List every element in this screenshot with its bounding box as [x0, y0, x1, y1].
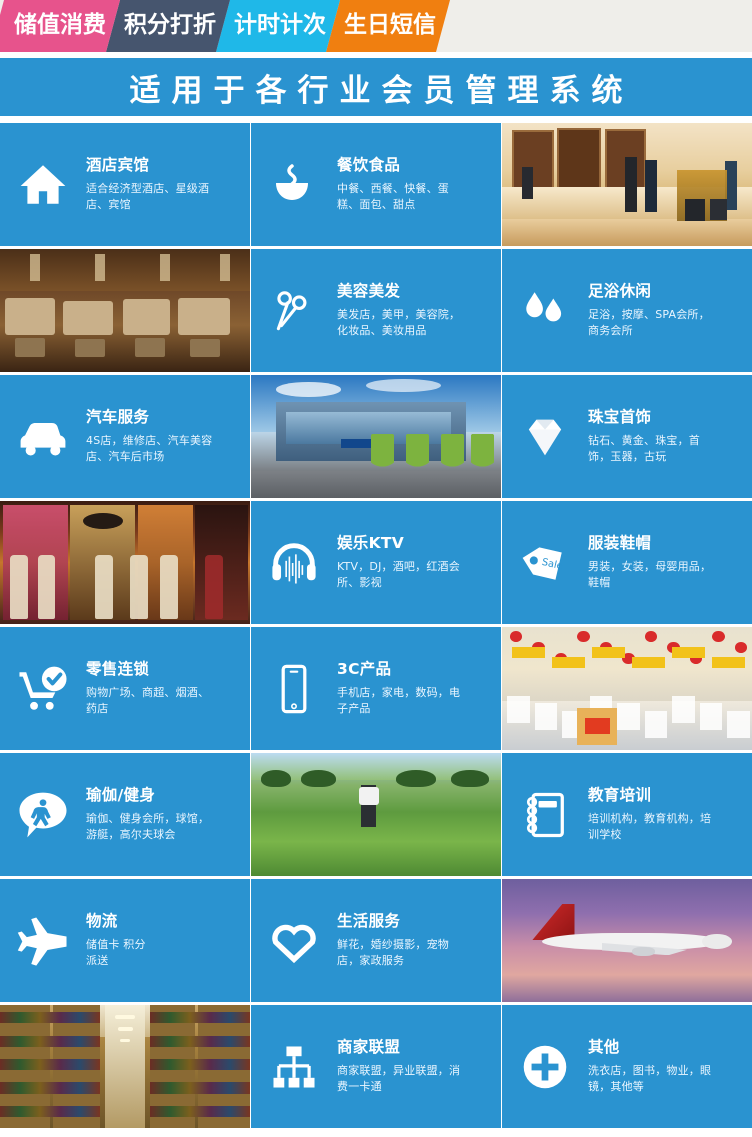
grid-cell-text: 餐饮食品中餐、西餐、快餐、蛋糕、面包、甜点	[337, 157, 457, 213]
feature-tab-2[interactable]: 计时计次	[216, 0, 340, 52]
grid-cell-car[interactable]: 汽车服务4S店，维修店、汽车美容店、汽车后市场	[0, 375, 250, 498]
grid-cell-description-line: 购物广场、商超、烟酒、	[86, 685, 209, 701]
grid-cell-photo[interactable]	[0, 501, 250, 624]
car-icon	[0, 409, 86, 465]
grid-cell-diamond[interactable]: 珠宝首饰钻石、黄金、珠宝，首饰，玉器，古玩	[502, 375, 752, 498]
grid-cell-fitness-chat[interactable]: 瑜伽/健身瑜伽、健身会所，球馆，游艇，高尔夫球会	[0, 753, 250, 876]
feature-tab-0[interactable]: 储值消费	[0, 0, 120, 52]
grid-cell-coffee-cup[interactable]: 餐饮食品中餐、西餐、快餐、蛋糕、面包、甜点	[251, 123, 501, 246]
grid-cell-text: 瑜伽/健身瑜伽、健身会所，球馆，游艇，高尔夫球会	[86, 787, 217, 843]
feature-tab-strip: 储值消费积分打折计时计次生日短信	[0, 0, 752, 52]
feature-tab-label: 计时计次	[234, 0, 326, 51]
grid-cell-text: 娱乐KTVKTV，DJ，酒吧，红酒会所、影视	[337, 535, 468, 591]
grid-cell-description: 足浴，按摩、SPA会所，商务会所	[588, 307, 710, 339]
grid-cell-smartphone[interactable]: 3C产品手机店，家电，数码，电子产品	[251, 627, 501, 750]
grid-cell-description: 钻石、黄金、珠宝，首饰，玉器，古玩	[588, 433, 700, 465]
grid-cell-description-line: 商家联盟，异业联盟，消	[337, 1063, 460, 1079]
grid-cell-description-line: 子产品	[337, 701, 460, 717]
grid-cell-description: 购物广场、商超、烟酒、药店	[86, 685, 209, 717]
grid-cell-description-line: 鞋帽	[588, 575, 711, 591]
grid-cell-description: 手机店，家电，数码，电子产品	[337, 685, 460, 717]
grid-cell-photo[interactable]	[502, 123, 752, 246]
feature-tabs: 储值消费积分打折计时计次生日短信	[0, 0, 436, 52]
grid-cell-description-line: 培训机构，教育机构，培	[588, 811, 711, 827]
grid-cell-title: 其他	[588, 1039, 711, 1056]
grid-cell-description: 男装，女装，母婴用品，鞋帽	[588, 559, 711, 591]
plus-circle-icon	[502, 1039, 588, 1095]
shopping-cart-check-icon	[0, 661, 86, 717]
grid-cell-description-line: 药店	[86, 701, 209, 717]
grid-cell-description-line: 4S店，维修店、汽车美容	[86, 433, 212, 449]
diamond-icon	[502, 410, 588, 464]
fitness-chat-icon	[0, 787, 86, 843]
grid-cell-sale-tag[interactable]: Sale服装鞋帽男装，女装，母婴用品，鞋帽	[502, 501, 752, 624]
grid-cell-text: 教育培训培训机构，教育机构，培训学校	[588, 787, 719, 843]
page-banner: 适用于各行业会员管理系统	[0, 58, 752, 116]
grid-cell-title: 商家联盟	[337, 1039, 460, 1056]
grid-cell-title: 零售连锁	[86, 661, 209, 678]
grid-cell-text: 美容美发美发店，美甲，美容院，化妆品、美妆用品	[337, 283, 468, 339]
grid-cell-text: 零售连锁购物广场、商超、烟酒、药店	[86, 661, 217, 717]
industry-grid: 酒店宾馆适合经济型酒店、星级酒店、宾馆餐饮食品中餐、西餐、快餐、蛋糕、面包、甜点…	[0, 123, 752, 1128]
feature-tab-label: 生日短信	[344, 0, 436, 51]
grid-cell-text: 3C产品手机店，家电，数码，电子产品	[337, 661, 468, 717]
grid-cell-description-line: 游艇，高尔夫球会	[86, 827, 209, 843]
grid-cell-description-line: 训学校	[588, 827, 711, 843]
grid-cell-description-line: 化妆品、美妆用品	[337, 323, 460, 339]
grid-cell-text: 生活服务鲜花，婚纱摄影，宠物店，家政服务	[337, 913, 457, 969]
promo-page: 储值消费积分打折计时计次生日短信 适用于各行业会员管理系统 酒店宾馆适合经济型酒…	[0, 0, 752, 1137]
grid-cell-title: 3C产品	[337, 661, 460, 678]
library-photo	[0, 1005, 250, 1128]
grid-cell-description: 培训机构，教育机构，培训学校	[588, 811, 711, 843]
hotel-lobby-photo	[502, 123, 752, 246]
grid-cell-description-line: 瑜伽、健身会所，球馆，	[86, 811, 209, 827]
grid-cell-description-line: 手机店，家电，数码，电	[337, 685, 460, 701]
org-chart-icon	[251, 1040, 337, 1094]
grid-cell-plus-circle[interactable]: 其他洗衣店，图书，物业，眼镜，其他等	[502, 1005, 752, 1128]
grid-cell-description-line: 饰，玉器，古玩	[588, 449, 700, 465]
grid-cell-shopping-cart-check[interactable]: 零售连锁购物广场、商超、烟酒、药店	[0, 627, 250, 750]
scissors-icon	[251, 285, 337, 337]
grid-cell-description-line: 中餐、西餐、快餐、蛋	[337, 181, 449, 197]
grid-cell-water-drops[interactable]: 足浴休闲足浴，按摩、SPA会所，商务会所	[502, 249, 752, 372]
grid-cell-text: 汽车服务4S店，维修店、汽车美容店、汽车后市场	[86, 409, 220, 465]
grid-cell-description-line: 鲜花，婚纱摄影，宠物	[337, 937, 449, 953]
grid-cell-photo[interactable]	[251, 375, 501, 498]
grid-cell-description-line: 洗衣店，图书，物业，眼	[588, 1063, 711, 1079]
grid-cell-title: 餐饮食品	[337, 157, 449, 174]
grid-cell-description-line: 足浴，按摩、SPA会所，	[588, 307, 710, 323]
notebook-icon	[502, 788, 588, 842]
retail-store-photo	[502, 627, 752, 750]
grid-cell-description-line: 糕、面包、甜点	[337, 197, 449, 213]
grid-cell-title: 珠宝首饰	[588, 409, 700, 426]
grid-cell-description-line: 商务会所	[588, 323, 710, 339]
feature-tab-label: 积分打折	[124, 0, 216, 51]
grid-cell-notebook[interactable]: 教育培训培训机构，教育机构，培训学校	[502, 753, 752, 876]
grid-cell-headphones[interactable]: 娱乐KTVKTV，DJ，酒吧，红酒会所、影视	[251, 501, 501, 624]
grid-cell-description-line: 储值卡 积分	[86, 937, 146, 953]
grid-cell-title: 物流	[86, 913, 146, 930]
grid-cell-description-line: 美发店，美甲，美容院，	[337, 307, 460, 323]
feature-tab-3[interactable]: 生日短信	[326, 0, 450, 52]
grid-cell-text: 足浴休闲足浴，按摩、SPA会所，商务会所	[588, 283, 718, 339]
grid-cell-airplane[interactable]: 物流储值卡 积分派送	[0, 879, 250, 1002]
grid-cell-description: 鲜花，婚纱摄影，宠物店，家政服务	[337, 937, 449, 969]
grid-cell-description: 洗衣店，图书，物业，眼镜，其他等	[588, 1063, 711, 1095]
heart-icon	[251, 914, 337, 968]
feature-tab-1[interactable]: 积分打折	[106, 0, 230, 52]
car-dealership-photo	[251, 375, 501, 498]
home-icon	[0, 159, 86, 211]
grid-cell-description: 4S店，维修店、汽车美容店、汽车后市场	[86, 433, 212, 465]
clothing-store-photo	[0, 501, 250, 624]
grid-cell-description: KTV，DJ，酒吧，红酒会所、影视	[337, 559, 460, 591]
grid-cell-description-line: 费一卡通	[337, 1079, 460, 1095]
grid-cell-text: 服装鞋帽男装，女装，母婴用品，鞋帽	[588, 535, 719, 591]
grid-cell-title: 美容美发	[337, 283, 460, 300]
grid-cell-description: 储值卡 积分派送	[86, 937, 146, 969]
grid-cell-org-chart[interactable]: 商家联盟商家联盟，异业联盟，消费一卡通	[251, 1005, 501, 1128]
grid-cell-description-line: 男装，女装，母婴用品，	[588, 559, 711, 575]
grid-cell-photo[interactable]	[251, 753, 501, 876]
grid-cell-photo[interactable]	[0, 249, 250, 372]
grid-cell-title: 服装鞋帽	[588, 535, 711, 552]
headphones-icon	[251, 536, 337, 590]
grid-cell-description: 中餐、西餐、快餐、蛋糕、面包、甜点	[337, 181, 449, 213]
smartphone-icon	[251, 662, 337, 716]
grid-cell-text: 其他洗衣店，图书，物业，眼镜，其他等	[588, 1039, 719, 1095]
grid-cell-text: 商家联盟商家联盟，异业联盟，消费一卡通	[337, 1039, 468, 1095]
grid-cell-description-line: 钻石、黄金、珠宝，首	[588, 433, 700, 449]
grid-cell-photo[interactable]	[502, 879, 752, 1002]
coffee-cup-icon	[251, 160, 337, 210]
hotel-lounge-photo	[0, 249, 250, 372]
grid-cell-description-line: 所、影视	[337, 575, 460, 591]
grid-cell-heart[interactable]: 生活服务鲜花，婚纱摄影，宠物店，家政服务	[251, 879, 501, 1002]
feature-tab-label: 储值消费	[14, 0, 106, 51]
sale-tag-icon: Sale	[502, 534, 588, 592]
grid-cell-photo[interactable]	[0, 1005, 250, 1128]
grid-cell-text: 珠宝首饰钻石、黄金、珠宝，首饰，玉器，古玩	[588, 409, 708, 465]
grid-cell-description: 适合经济型酒店、星级酒店、宾馆	[86, 181, 209, 213]
grid-cell-title: 教育培训	[588, 787, 711, 804]
grid-cell-description-line: 店、宾馆	[86, 197, 209, 213]
grid-cell-description-line: 派送	[86, 953, 146, 969]
grid-cell-text: 酒店宾馆适合经济型酒店、星级酒店、宾馆	[86, 157, 217, 213]
grid-cell-photo[interactable]	[502, 627, 752, 750]
grid-cell-home[interactable]: 酒店宾馆适合经济型酒店、星级酒店、宾馆	[0, 123, 250, 246]
grid-cell-description-line: 店，家政服务	[337, 953, 449, 969]
golf-course-photo	[251, 753, 501, 876]
grid-cell-title: 瑜伽/健身	[86, 787, 209, 804]
airplane-photo	[502, 879, 752, 1002]
water-drops-icon	[502, 285, 588, 337]
grid-cell-description: 商家联盟，异业联盟，消费一卡通	[337, 1063, 460, 1095]
grid-cell-description-line: 镜，其他等	[588, 1079, 711, 1095]
grid-cell-title: 足浴休闲	[588, 283, 710, 300]
grid-cell-title: 娱乐KTV	[337, 535, 460, 552]
airplane-icon	[0, 913, 86, 969]
banner-title: 适用于各行业会员管理系统	[119, 65, 634, 110]
grid-cell-title: 汽车服务	[86, 409, 212, 426]
grid-cell-description-line: KTV，DJ，酒吧，红酒会	[337, 559, 460, 575]
grid-cell-description: 瑜伽、健身会所，球馆，游艇，高尔夫球会	[86, 811, 209, 843]
grid-cell-title: 酒店宾馆	[86, 157, 209, 174]
grid-cell-description-line: 适合经济型酒店、星级酒	[86, 181, 209, 197]
grid-cell-title: 生活服务	[337, 913, 449, 930]
grid-cell-scissors[interactable]: 美容美发美发店，美甲，美容院，化妆品、美妆用品	[251, 249, 501, 372]
grid-cell-description: 美发店，美甲，美容院，化妆品、美妆用品	[337, 307, 460, 339]
grid-cell-description-line: 店、汽车后市场	[86, 449, 212, 465]
grid-cell-text: 物流储值卡 积分派送	[86, 913, 154, 969]
